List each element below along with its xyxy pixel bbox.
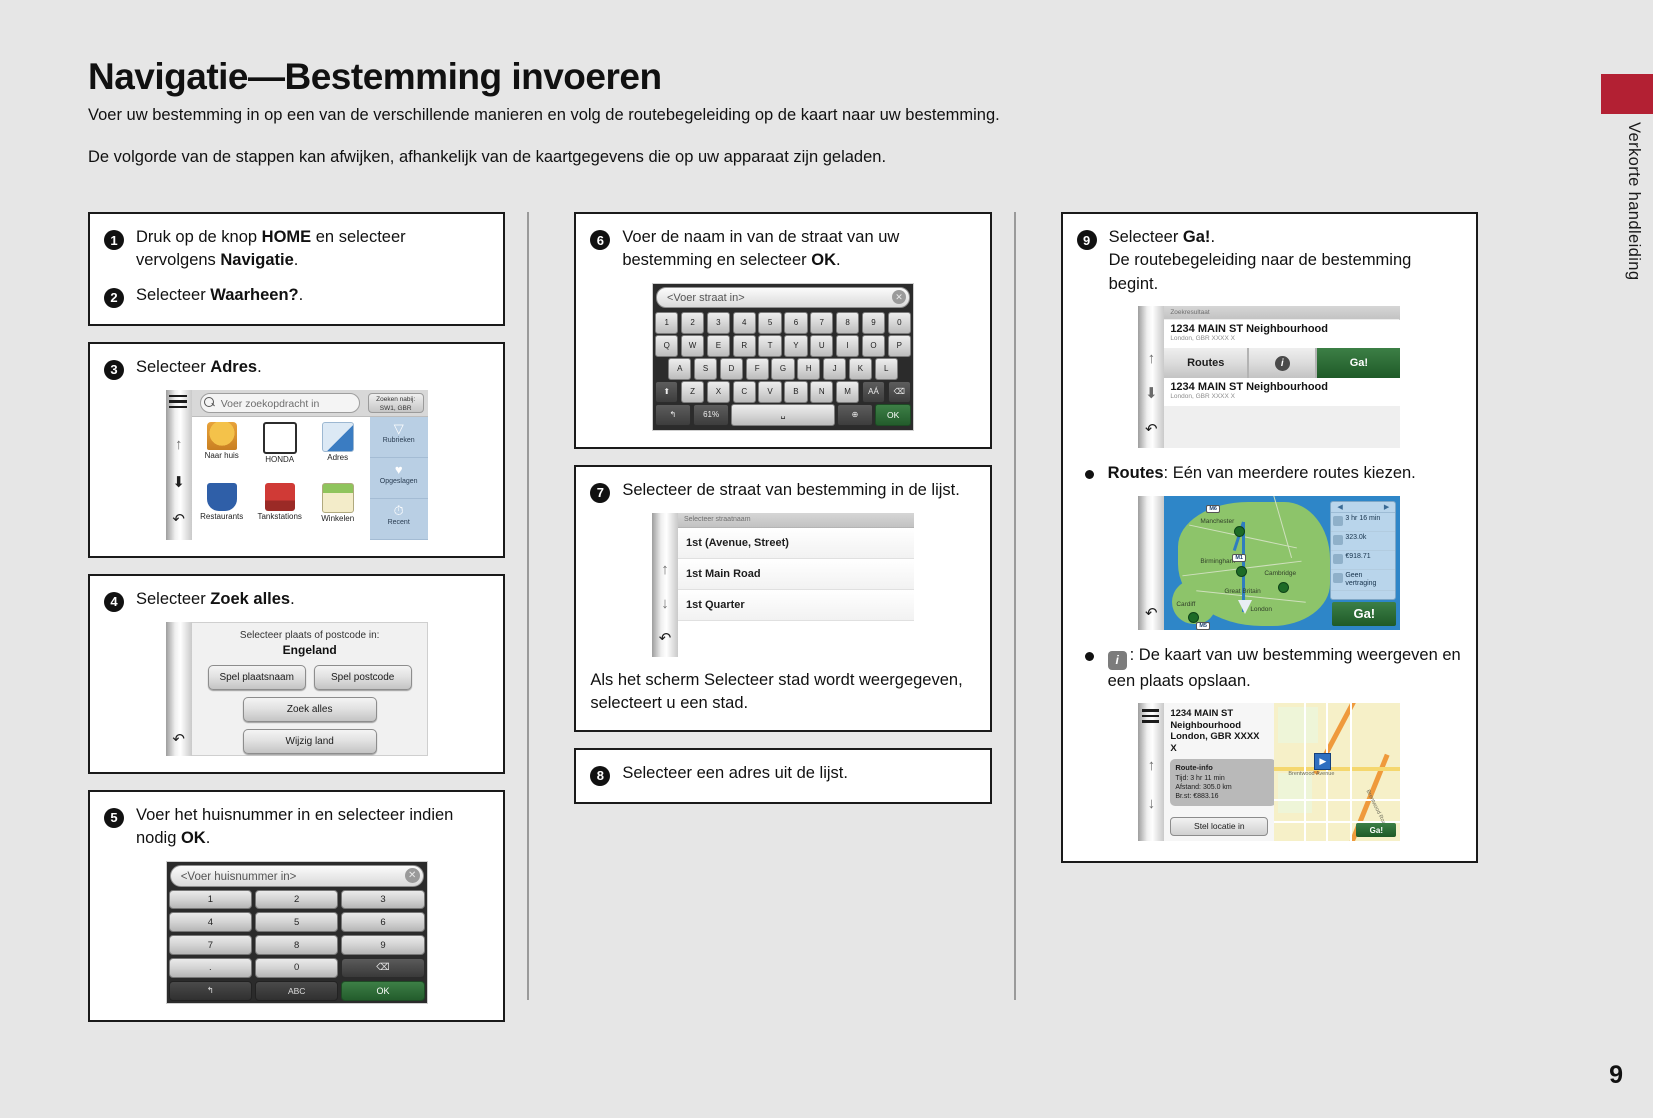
side-item-opgeslagen[interactable]: ♥ Opgeslagen xyxy=(370,458,428,499)
keyboard-row-a: A S D F G H J K L xyxy=(655,358,911,380)
step-box-7: 7 Selecteer de straat van bestemming in … xyxy=(574,465,991,732)
key-8[interactable]: 8 xyxy=(255,935,338,955)
key-M[interactable]: M xyxy=(836,381,859,403)
page-number: 9 xyxy=(1609,1061,1623,1090)
step-3-post: . xyxy=(257,358,262,376)
bullet-routes: Routes: Eén van meerdere routes kiezen. xyxy=(1081,462,1462,485)
back-icon[interactable]: ↶ xyxy=(170,510,188,528)
info-icon: i xyxy=(1275,356,1290,371)
go-button[interactable]: Ga! xyxy=(1317,348,1400,378)
step-9-bold: Ga! xyxy=(1183,228,1211,246)
key-A[interactable]: A xyxy=(668,358,691,380)
side-item-rubrieken[interactable]: ▽ Rubrieken xyxy=(370,417,428,458)
select-city-country: Engeland xyxy=(192,643,428,657)
backspace-icon[interactable]: ⌫ xyxy=(341,958,424,978)
result-title: 1234 MAIN ST Neighbourhood xyxy=(1164,378,1400,393)
step-box-8: 8 Selecteer een adres uit de lijst. xyxy=(574,748,991,804)
key-5[interactable]: 5 xyxy=(255,912,338,932)
route-distance: 323.0k xyxy=(1345,534,1366,541)
vehicle-marker-icon xyxy=(1238,600,1252,614)
step-4: 4 Selecteer Zoek alles. xyxy=(104,588,489,612)
ok-key[interactable]: OK xyxy=(341,981,424,1001)
step-number-2: 2 xyxy=(104,288,124,308)
step-1-post: . xyxy=(294,251,299,269)
step-number-3: 3 xyxy=(104,360,124,380)
column-2: 6 Voer de naam in van de straat van uw b… xyxy=(574,212,991,1002)
map-city-dot xyxy=(1278,582,1289,593)
step-1-pre: Druk op de knop xyxy=(136,228,262,246)
map-city-dot xyxy=(1236,566,1247,577)
back-icon[interactable]: ↶ xyxy=(1142,604,1160,622)
keyboard-row-z: ⬆ Z X C V B N M AÁ ⌫ xyxy=(655,381,911,403)
scroll-down-icon[interactable]: ⬇ xyxy=(170,473,188,491)
map-block xyxy=(1278,707,1318,743)
route-info-title: Route-info xyxy=(1175,763,1213,772)
next-route-icon[interactable]: ▶ xyxy=(1384,503,1389,511)
fuel-cost-icon xyxy=(1333,554,1343,564)
clear-icon[interactable]: ✕ xyxy=(405,868,420,883)
search-all-button[interactable]: Zoek alles xyxy=(243,697,377,722)
tile-honda[interactable]: HONDA xyxy=(252,422,308,464)
map-street xyxy=(1274,799,1400,801)
step-9: 9 Selecteer Ga!. De routebegeleiding naa… xyxy=(1077,226,1462,296)
destination-details-panel: 1234 MAIN ST Neighbourhood London, GBR X… xyxy=(1164,703,1274,841)
list-item[interactable]: 1st Main Road xyxy=(678,559,914,590)
step-1: 1 Druk op de knop HOME en selecteer verv… xyxy=(104,226,489,273)
step-3-pre: Selecteer xyxy=(136,358,210,376)
bullet-routes-rest: : Eén van meerdere routes kiezen. xyxy=(1164,464,1416,482)
go-button[interactable]: Ga! xyxy=(1332,602,1396,626)
back-icon[interactable]: ↰ xyxy=(655,404,691,426)
bullet-info-rest: : De kaart van uw bestemming weergeven e… xyxy=(1108,646,1461,690)
step-5-post: . xyxy=(206,829,211,847)
map-street-label: Brentwood Avenue xyxy=(1288,771,1334,777)
back-icon[interactable]: ↰ xyxy=(169,981,252,1001)
heart-icon: ♥ xyxy=(370,462,428,478)
step-number-7: 7 xyxy=(590,483,610,503)
menu-icon[interactable] xyxy=(1142,709,1159,726)
tile-label: Restaurants xyxy=(200,512,243,521)
step-4-pre: Selecteer xyxy=(136,590,210,608)
map-city-label: Manchester xyxy=(1200,518,1234,525)
route-info-time: Tijd: 3 hr 11 min xyxy=(1175,774,1271,783)
info-icon: i xyxy=(1108,651,1127,670)
step-4-bold: Zoek alles xyxy=(210,590,290,608)
step-5: 5 Voer het huisnummer in en selecteer in… xyxy=(104,804,489,851)
column-divider-2 xyxy=(1014,212,1016,1000)
key-Y[interactable]: Y xyxy=(784,335,807,357)
back-icon[interactable]: ↶ xyxy=(170,730,188,748)
route-time-row: 3 hr 16 min xyxy=(1331,513,1395,532)
map-city-label: Cambridge xyxy=(1264,570,1296,577)
route-traffic: Geen vertraging xyxy=(1345,572,1376,587)
prev-route-icon[interactable]: ◀ xyxy=(1337,503,1342,511)
step-box-3: 3 Selecteer Adres. ↑ ⬇ ↶ Voer zoekopdrac… xyxy=(88,342,505,558)
scroll-up-icon[interactable]: ↑ xyxy=(1142,350,1160,367)
map-city-dot xyxy=(1234,526,1245,537)
step-box-9: 9 Selecteer Ga!. De routebegeleiding naa… xyxy=(1061,212,1478,863)
step-box-6: 6 Voer de naam in van de straat van uw b… xyxy=(574,212,991,449)
spell-city-button[interactable]: Spel plaatsnaam xyxy=(208,665,306,690)
key-K[interactable]: K xyxy=(849,358,872,380)
route-cost: €918.71 xyxy=(1345,553,1370,560)
map-city-label: London xyxy=(1250,606,1272,613)
step-8: 8 Selecteer een adres uit de lijst. xyxy=(590,762,975,786)
map-block xyxy=(1278,773,1312,813)
keyboard-row-q: Q W E R T Y U I O P xyxy=(655,335,911,357)
bullet-info: i: De kaart van uw bestemming weergeven … xyxy=(1081,644,1462,693)
street-list-header: Selecteer straatnaam xyxy=(678,513,914,528)
accent-key[interactable]: AÁ xyxy=(862,381,885,403)
key-W[interactable]: W xyxy=(681,335,704,357)
bullet-dot xyxy=(1085,652,1094,661)
search-icon xyxy=(204,397,214,407)
screenshot-navigation-home: ↑ ⬇ ↶ Voer zoekopdracht in Zoeken nabij:… xyxy=(166,390,428,540)
key-P[interactable]: P xyxy=(888,335,911,357)
step-3-bold: Adres xyxy=(210,358,257,376)
clear-icon[interactable]: ✕ xyxy=(892,290,906,304)
spell-postcode-button[interactable]: Spel postcode xyxy=(314,665,412,690)
key-F[interactable]: F xyxy=(746,358,769,380)
key-2[interactable]: 2 xyxy=(255,890,338,910)
column-1: 1 Druk op de knop HOME en selecteer verv… xyxy=(88,212,505,1002)
tile-label: Naar huis xyxy=(205,451,239,460)
step-box-5: 5 Voer het huisnummer in en selecteer in… xyxy=(88,790,505,1022)
key-2[interactable]: 2 xyxy=(681,312,704,334)
abc-key[interactable]: ABC xyxy=(255,981,338,1001)
key-N[interactable]: N xyxy=(810,381,833,403)
match-count-key[interactable]: 61% xyxy=(693,404,729,426)
list-item[interactable]: 1st Quarter xyxy=(678,590,914,621)
key-1[interactable]: 1 xyxy=(655,312,678,334)
result-subtitle: London, GBR XXXX X xyxy=(1164,393,1400,400)
backspace-icon[interactable]: ⌫ xyxy=(888,381,911,403)
key-3[interactable]: 3 xyxy=(707,312,730,334)
step-box-4: 4 Selecteer Zoek alles. ↶ Selecteer plaa… xyxy=(88,574,505,774)
distance-icon xyxy=(1333,535,1343,545)
address-line-2: Neighbourhood xyxy=(1170,720,1270,732)
step-number-5: 5 xyxy=(104,808,124,828)
side-item-label: Opgeslagen xyxy=(380,478,418,485)
space-key[interactable]: ␣ xyxy=(731,404,834,426)
select-city-button-row: Spel plaatsnaam Spel postcode xyxy=(192,665,428,690)
scroll-down-icon[interactable]: ↓ xyxy=(656,595,674,612)
key-8[interactable]: 8 xyxy=(836,312,859,334)
device-side-rail: ↑ ⬇ ↶ xyxy=(1138,306,1164,448)
key-X[interactable]: X xyxy=(707,381,730,403)
result-entry-2[interactable]: 1234 MAIN ST Neighbourhood London, GBR X… xyxy=(1164,378,1400,406)
back-icon[interactable]: ↶ xyxy=(1142,420,1160,438)
key-E[interactable]: E xyxy=(707,335,730,357)
bullet-dot xyxy=(1085,470,1094,479)
step-7-note: Als het scherm Selecteer stad wordt weer… xyxy=(590,669,975,716)
screenshot-housenumber-keypad: <Voer huisnummer in> ✕ 1 2 3 4 5 6 7 8 9… xyxy=(166,861,428,1004)
address-line-3: London, GBR XXXX xyxy=(1170,731,1270,743)
change-country-button[interactable]: Wijzig land xyxy=(243,729,377,754)
key-B[interactable]: B xyxy=(784,381,807,403)
list-item[interactable]: 1st (Avenue, Street) xyxy=(678,528,914,559)
key-H[interactable]: H xyxy=(797,358,820,380)
honda-icon xyxy=(263,422,297,454)
destination-pin-icon: ▶ xyxy=(1314,753,1331,770)
key-I[interactable]: I xyxy=(836,335,859,357)
key-1[interactable]: 1 xyxy=(169,890,252,910)
intro-line-1: Voer uw bestemming in op een van de vers… xyxy=(88,103,1268,128)
route-info-box: Route-info Tijd: 3 hr 11 min Afstand: 30… xyxy=(1170,759,1276,806)
categories-icon: ▽ xyxy=(370,421,428,437)
route-info-distance: Afstand: 305.0 km xyxy=(1175,783,1271,792)
key-U[interactable]: U xyxy=(810,335,833,357)
bullet-routes-text: Routes: Eén van meerdere routes kiezen. xyxy=(1108,462,1416,485)
screenshot-street-keyboard: <Voer straat in> ✕ 1 2 3 4 5 6 7 8 9 0 Q… xyxy=(652,283,914,431)
step-number-8: 8 xyxy=(590,766,610,786)
step-2-bold: Waarheen? xyxy=(210,286,298,304)
search-near-button[interactable]: Zoeken nabij: SW1, GBR xyxy=(368,393,424,413)
go-button[interactable]: Ga! xyxy=(1356,823,1396,837)
page-title: Navigatie—Bestemming invoeren xyxy=(88,58,1268,97)
step-box-1-2: 1 Druk op de knop HOME en selecteer verv… xyxy=(88,212,505,326)
scroll-up-icon[interactable]: ↑ xyxy=(656,561,674,578)
step-9-line2: De routebegeleiding naar de bestemming b… xyxy=(1109,249,1462,296)
street-list-rows: 1st (Avenue, Street) 1st Main Road 1st Q… xyxy=(678,528,914,657)
step-text-7: Selecteer de straat van bestemming in de… xyxy=(622,479,960,502)
key-0[interactable]: 0 xyxy=(255,958,338,978)
tile-label: Winkelen xyxy=(321,514,354,523)
screenshot-destination-map: ↑ ↓ 1234 MAIN ST Neighbourhood London, G… xyxy=(1138,703,1400,841)
bullet-routes-bold: Routes xyxy=(1108,464,1164,482)
tile-label: HONDA xyxy=(265,455,294,464)
key-G[interactable]: G xyxy=(771,358,794,380)
destination-address: 1234 MAIN ST Neighbourhood London, GBR X… xyxy=(1164,703,1274,754)
step-6-bold: OK xyxy=(811,251,836,269)
step-3: 3 Selecteer Adres. xyxy=(104,356,489,380)
device-side-rail: ↑ ⬇ ↶ xyxy=(166,390,192,540)
select-city-prompt: Selecteer plaats of postcode in: xyxy=(192,630,428,641)
key-4[interactable]: 4 xyxy=(169,912,252,932)
route-time: 3 hr 16 min xyxy=(1345,515,1380,522)
tile-restaurants[interactable]: Restaurants xyxy=(194,483,250,521)
scroll-down-icon[interactable]: ⬇ xyxy=(1142,384,1160,402)
step-text-1: Druk op de knop HOME en selecteer vervol… xyxy=(136,226,489,273)
set-location-button[interactable]: Stel locatie in xyxy=(1170,817,1268,836)
step-number-9: 9 xyxy=(1077,230,1097,250)
key-T[interactable]: T xyxy=(758,335,781,357)
result-empty-area xyxy=(1164,406,1400,448)
side-item-recent[interactable]: ⏱ Recent xyxy=(370,499,428,540)
search-near-line1: Zoeken nabij: xyxy=(369,396,423,405)
numeric-keypad: 1 2 3 4 5 6 7 8 9 . 0 ⌫ ↰ ABC OK xyxy=(169,890,425,1001)
step-text-5: Voer het huisnummer in en selecteer indi… xyxy=(136,804,489,851)
side-item-label: Rubrieken xyxy=(383,437,415,444)
keyboard-row-numbers: 1 2 3 4 5 6 7 8 9 0 xyxy=(655,312,911,334)
key-4[interactable]: 4 xyxy=(733,312,756,334)
step-1-bold-home: HOME xyxy=(262,228,312,246)
key-D[interactable]: D xyxy=(720,358,743,380)
keyboard-row-bottom: ↰ 61% ␣ ⊕ OK xyxy=(655,404,911,426)
step-number-6: 6 xyxy=(590,230,610,250)
address-line-1: 1234 MAIN ST xyxy=(1170,708,1270,720)
key-Z[interactable]: Z xyxy=(681,381,704,403)
map-city-label: Cardiff xyxy=(1176,601,1195,608)
street-input[interactable]: <Voer straat in> xyxy=(656,287,910,308)
device-side-rail: ↶ xyxy=(1138,496,1164,630)
route-summary-panel: ◀▶ 3 hr 16 min 323.0k €918.71 Geen vertr… xyxy=(1330,501,1396,600)
search-near-line2: SW1, GBR xyxy=(369,405,423,414)
screenshot-street-list: ↑ ↓ ↶ Selecteer straatnaam 1st (Avenue, … xyxy=(652,513,914,657)
step-text-9: Selecteer Ga!. De routebegeleiding naar … xyxy=(1109,226,1462,296)
step-text-2: Selecteer Waarheen?. xyxy=(136,284,303,307)
page-header: Navigatie—Bestemming invoeren Voer uw be… xyxy=(88,58,1268,169)
step-number-1: 1 xyxy=(104,230,124,250)
key-9[interactable]: 9 xyxy=(341,935,424,955)
route-info-fuel: Br.st: €883.16 xyxy=(1175,792,1271,801)
column-divider-1 xyxy=(527,212,529,1000)
step-2-pre: Selecteer xyxy=(136,286,210,304)
address-search-icon xyxy=(322,422,354,452)
result-header: Zoekresultaat xyxy=(1164,306,1400,319)
step-text-6: Voer de naam in van de straat van uw bes… xyxy=(622,226,975,273)
key-R[interactable]: R xyxy=(733,335,756,357)
info-button[interactable]: i xyxy=(1249,348,1315,378)
scroll-up-icon[interactable]: ↑ xyxy=(1142,757,1160,774)
tile-label: Tankstations xyxy=(257,512,301,521)
key-7[interactable]: 7 xyxy=(810,312,833,334)
traffic-icon xyxy=(1333,573,1343,583)
tile-tankstations[interactable]: Tankstations xyxy=(252,483,308,521)
address-line-4: X xyxy=(1170,743,1270,755)
column-3: 9 Selecteer Ga!. De routebegeleiding naa… xyxy=(1061,212,1478,1002)
section-tab-label: Verkorte handleiding xyxy=(1624,122,1643,280)
step-6-pre: Voer de naam in van de straat van uw bes… xyxy=(622,228,899,269)
step-4-post: . xyxy=(290,590,295,608)
key-Q[interactable]: Q xyxy=(655,335,678,357)
shopping-icon xyxy=(322,483,354,513)
clock-icon xyxy=(1333,516,1343,526)
step-9-post: . xyxy=(1210,228,1215,246)
ok-key[interactable]: OK xyxy=(875,404,911,426)
content-columns: 1 Druk op de knop HOME en selecteer verv… xyxy=(88,212,1478,1002)
step-2-post: . xyxy=(299,286,304,304)
step-9-pre: Selecteer xyxy=(1109,228,1183,246)
step-1-bold-nav: Navigatie xyxy=(220,251,293,269)
shortcut-grid: Naar huis HONDA Adres Restaurants xyxy=(192,417,370,540)
search-input[interactable]: Voer zoekopdracht in xyxy=(200,393,360,413)
map-city-label: Birmingham xyxy=(1200,558,1235,565)
step-number-4: 4 xyxy=(104,592,124,612)
key-C[interactable]: C xyxy=(733,381,756,403)
device-side-rail: ↑ ↓ ↶ xyxy=(652,513,678,657)
bullet-info-text: i: De kaart van uw bestemming weergeven … xyxy=(1108,644,1462,693)
home-icon xyxy=(207,422,237,450)
back-icon[interactable]: ↶ xyxy=(656,629,674,647)
key-L[interactable]: L xyxy=(875,358,898,380)
step-text-4: Selecteer Zoek alles. xyxy=(136,588,295,611)
map-region-label: Great Britain xyxy=(1224,588,1261,595)
tile-naar-huis[interactable]: Naar huis xyxy=(194,422,250,460)
menu-icon[interactable] xyxy=(169,395,187,412)
scroll-down-icon[interactable]: ↓ xyxy=(1142,795,1160,812)
tile-label: Adres xyxy=(327,453,348,462)
road-shield: M6 xyxy=(1206,505,1220,513)
key-3[interactable]: 3 xyxy=(341,890,424,910)
tile-winkelen[interactable]: Winkelen xyxy=(310,483,366,523)
key-S[interactable]: S xyxy=(694,358,717,380)
search-side-panel: ▽ Rubrieken ♥ Opgeslagen ⏱ Recent xyxy=(370,417,428,540)
scroll-up-icon[interactable]: ↑ xyxy=(170,436,188,453)
step-text-8: Selecteer een adres uit de lijst. xyxy=(622,762,848,785)
clock-icon: ⏱ xyxy=(370,503,428,519)
step-5-bold: OK xyxy=(181,829,206,847)
side-item-label: Recent xyxy=(388,519,410,526)
step-7: 7 Selecteer de straat van bestemming in … xyxy=(590,479,975,503)
step-6: 6 Voer de naam in van de straat van uw b… xyxy=(590,226,975,273)
route-pager[interactable]: ◀▶ xyxy=(1331,502,1395,513)
result-action-row: Routes i Ga! xyxy=(1164,348,1400,378)
road-shield: M1 xyxy=(1232,554,1246,562)
destination-map-canvas[interactable]: ▶ Brentwood Avenue Brentwood Road Ga! xyxy=(1274,703,1400,841)
housenumber-input[interactable]: <Voer huisnummer in> xyxy=(170,865,424,887)
screenshot-search-result: ↑ ⬇ ↶ Zoekresultaat 1234 MAIN ST Neighbo… xyxy=(1138,306,1400,448)
select-city-body: Selecteer plaats of postcode in: Engelan… xyxy=(192,622,428,756)
fuel-icon xyxy=(265,483,295,511)
key-6[interactable]: 6 xyxy=(341,912,424,932)
tile-adres[interactable]: Adres xyxy=(310,422,366,462)
result-subtitle: London, GBR XXXX X xyxy=(1164,335,1400,342)
step-6-post: . xyxy=(836,251,841,269)
route-distance-row: 323.0k xyxy=(1331,532,1395,551)
key-6[interactable]: 6 xyxy=(784,312,807,334)
routes-button[interactable]: Routes xyxy=(1164,348,1247,378)
road-shield: M5 xyxy=(1196,622,1210,630)
key-9[interactable]: 9 xyxy=(862,312,885,334)
step-text-3: Selecteer Adres. xyxy=(136,356,262,379)
shift-icon[interactable]: ⬆ xyxy=(655,381,678,403)
restaurant-icon xyxy=(207,483,237,511)
screenshot-select-city: ↶ Selecteer plaats of postcode in: Engel… xyxy=(166,622,428,756)
section-tab-marker xyxy=(1601,74,1653,114)
route-traffic-row: Geen vertraging xyxy=(1331,570,1395,591)
result-entry-1[interactable]: 1234 MAIN ST Neighbourhood London, GBR X… xyxy=(1164,320,1400,348)
key-V[interactable]: V xyxy=(758,381,781,403)
key-0[interactable]: 0 xyxy=(888,312,911,334)
route-cost-row: €918.71 xyxy=(1331,551,1395,570)
key-5[interactable]: 5 xyxy=(758,312,781,334)
key-O[interactable]: O xyxy=(862,335,885,357)
device-side-rail: ↶ xyxy=(166,622,192,756)
key-dot[interactable]: . xyxy=(169,958,252,978)
result-title: 1234 MAIN ST Neighbourhood xyxy=(1164,320,1400,335)
key-7[interactable]: 7 xyxy=(169,935,252,955)
screenshot-routes-map: ↶ Manchester Birmingham Cambridge Great … xyxy=(1138,496,1400,630)
language-globe-icon[interactable]: ⊕ xyxy=(837,404,873,426)
key-J[interactable]: J xyxy=(823,358,846,380)
step-2: 2 Selecteer Waarheen?. xyxy=(104,284,489,308)
intro-line-2: De volgorde van de stappen kan afwijken,… xyxy=(88,145,1268,170)
